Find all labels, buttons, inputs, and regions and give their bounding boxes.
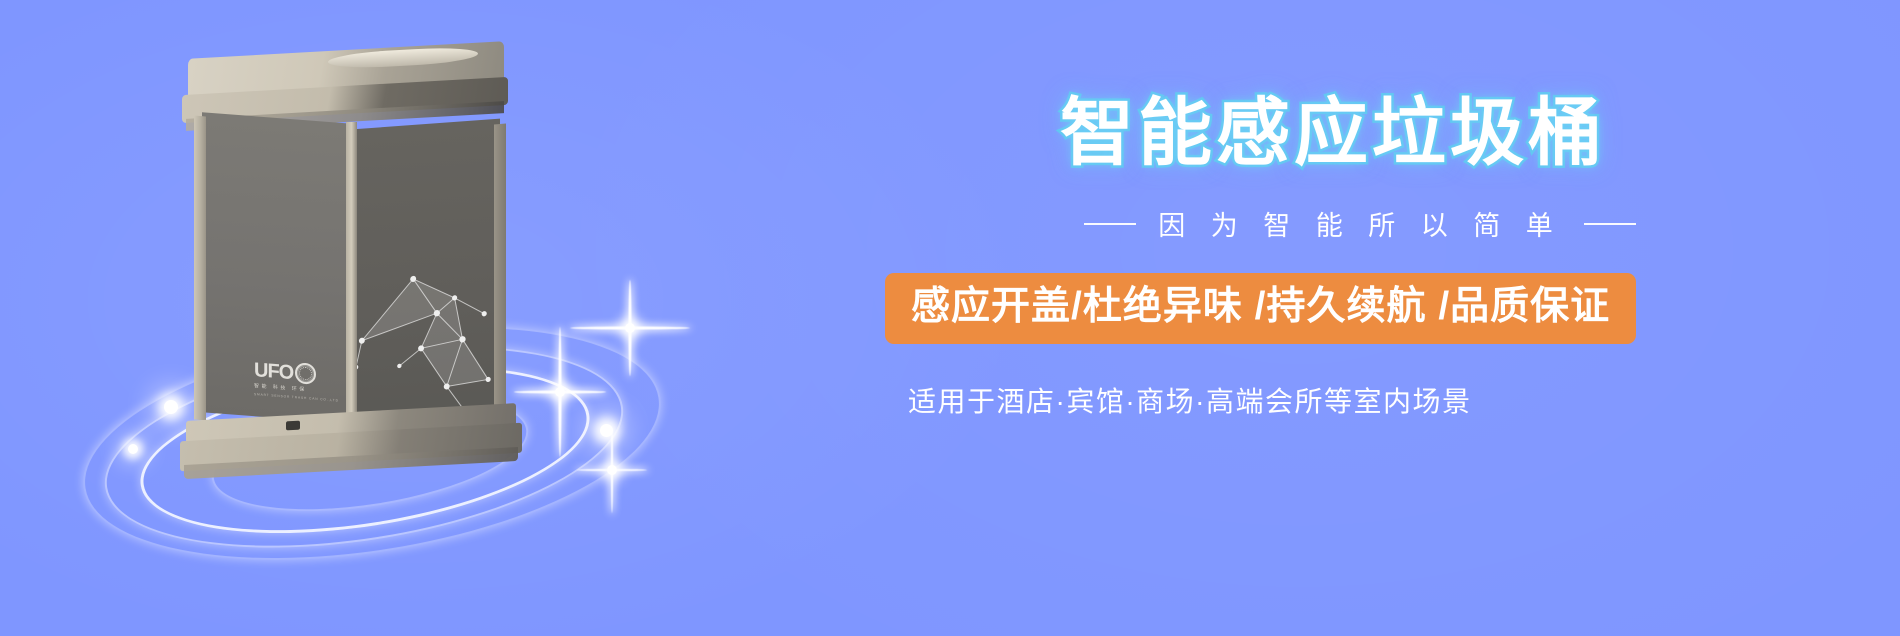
glow-dot-2 <box>128 444 138 454</box>
body-edge-right <box>494 124 506 421</box>
trash-can-body: UFO 智能 科技 环保 SMART SENSOR TRASH CAN CO.,… <box>180 40 520 440</box>
product-promo-banner: UFO 智能 科技 环保 SMART SENSOR TRASH CAN CO.,… <box>0 0 1900 636</box>
subtitle-row: 因 为 智 能 所 以 简 单 <box>880 204 1840 243</box>
body-edge-left <box>194 116 206 421</box>
rule-left-icon <box>1084 223 1136 225</box>
product-illustration: UFO 智能 科技 环保 SMART SENSOR TRASH CAN CO.,… <box>60 40 780 560</box>
lid-opening <box>328 46 478 70</box>
brand-wordmark: UFO <box>254 361 293 382</box>
body-edge-mid <box>346 122 357 422</box>
brand-ring-icon <box>295 362 316 385</box>
network-graphic <box>352 239 500 428</box>
copy-block: 智能感应垃圾桶 因 为 智 能 所 以 简 单 感应开盖/杜绝异味 /持久续航 … <box>880 96 1840 420</box>
feature-bar: 感应开盖/杜绝异味 /持久续航 /品质保证 <box>885 273 1636 344</box>
sensor-slot <box>286 421 300 431</box>
brand-logo: UFO 智能 科技 环保 SMART SENSOR TRASH CAN CO.,… <box>254 359 330 411</box>
body-panel-right <box>352 119 500 428</box>
rule-right-icon <box>1584 223 1636 225</box>
usage-scenarios-text: 适用于酒店·宾馆·商场·高端会所等室内场景 <box>908 380 1840 420</box>
page-title: 智能感应垃圾桶 <box>1060 96 1840 170</box>
brand-logo-mark: UFO <box>254 359 330 386</box>
glow-dot-1 <box>164 400 178 414</box>
subtitle-text: 因 为 智 能 所 以 简 单 <box>1158 204 1562 243</box>
